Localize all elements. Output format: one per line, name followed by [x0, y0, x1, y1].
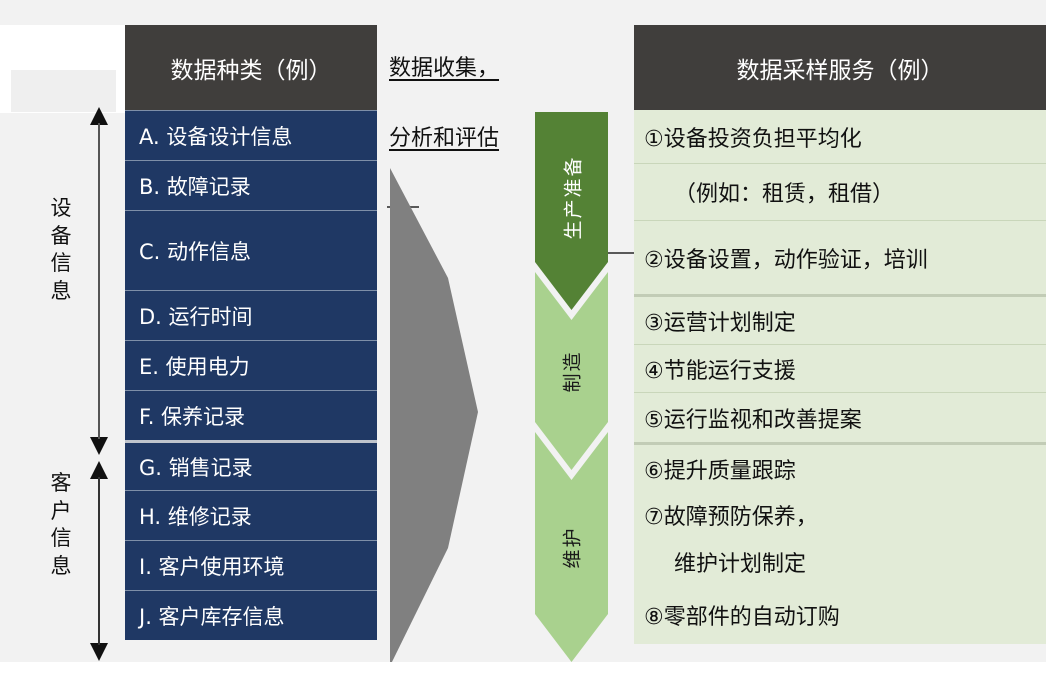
range-arrow-customer — [88, 461, 110, 661]
phase-chevron-maintenance[interactable]: 维护 — [535, 432, 608, 662]
service-row-3[interactable]: ③运营计划制定 — [634, 294, 1046, 344]
data-kind-row-f[interactable]: F. 保养记录 — [125, 390, 377, 440]
data-kind-row-d[interactable]: D. 运行时间 — [125, 290, 377, 340]
service-row-7[interactable]: ⑦故障预防保养， — [634, 492, 1046, 538]
range-arrow-equipment — [88, 107, 110, 455]
data-kind-row-i[interactable]: I. 客户使用环境 — [125, 540, 377, 590]
category-label-customer: 客 户 信 息 — [46, 470, 76, 581]
data-kind-row-e[interactable]: E. 使用电力 — [125, 340, 377, 390]
service-row-1-example[interactable]: （例如：租赁，租借） — [634, 163, 1046, 220]
service-row-8[interactable]: ⑧零部件的自动订购 — [634, 586, 1046, 644]
process-label-line1: 数据收集， — [389, 50, 499, 82]
data-kind-row-j[interactable]: J. 客户库存信息 — [125, 590, 377, 640]
background-bottom-strip — [0, 662, 1046, 675]
service-row-2[interactable]: ②设备设置，动作验证，培训 — [634, 220, 1046, 294]
service-row-1[interactable]: ①设备投资负担平均化 — [634, 110, 1046, 163]
background-gray-box — [11, 70, 116, 112]
data-kind-row-h[interactable]: H. 维修记录 — [125, 490, 377, 540]
data-kinds-table: 数据种类（例） A. 设备设计信息 B. 故障记录 C. 动作信息 D. 运行时… — [125, 25, 377, 640]
process-label-line2: 分析和评估 — [389, 120, 499, 152]
category-char: 备 — [46, 223, 76, 251]
category-char: 设 — [46, 195, 76, 223]
service-row-5[interactable]: ⑤运行监视和改善提案 — [634, 392, 1046, 442]
data-kind-row-b[interactable]: B. 故障记录 — [125, 160, 377, 210]
service-row-7-cont[interactable]: 维护计划制定 — [634, 538, 1046, 586]
flow-arrow-icon — [388, 168, 480, 666]
sampling-services-table: 数据采样服务（例） ①设备投资负担平均化 （例如：租赁，租借） ②设备设置，动作… — [634, 25, 1046, 644]
background-top-strip — [0, 0, 1046, 25]
category-char: 户 — [46, 498, 76, 526]
service-row-4[interactable]: ④节能运行支援 — [634, 344, 1046, 392]
data-kind-row-a[interactable]: A. 设备设计信息 — [125, 110, 377, 160]
data-kind-row-g[interactable]: G. 销售记录 — [125, 440, 377, 490]
category-char: 信 — [46, 525, 76, 553]
category-label-equipment: 设 备 信 息 — [46, 195, 76, 306]
category-char: 客 — [46, 470, 76, 498]
data-kind-row-c[interactable]: C. 动作信息 — [125, 210, 377, 290]
category-char: 信 — [46, 250, 76, 278]
category-char: 息 — [46, 278, 76, 306]
service-row-6[interactable]: ⑥提升质量跟踪 — [634, 442, 1046, 492]
diagram-canvas: 设 备 信 息 客 户 信 息 数据种类（例） A. 设备设计信息 B. 故障记… — [0, 0, 1046, 675]
sampling-services-header: 数据采样服务（例） — [634, 25, 1046, 110]
category-char: 息 — [46, 553, 76, 581]
data-kinds-header: 数据种类（例） — [125, 25, 377, 110]
